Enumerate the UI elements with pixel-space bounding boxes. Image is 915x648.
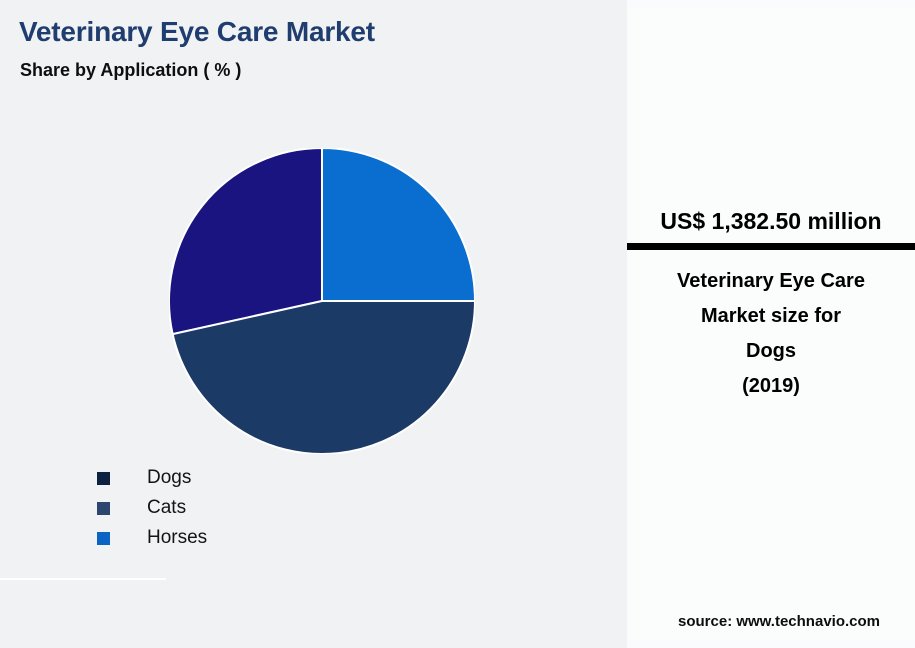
legend-item-dogs[interactable]: Dogs: [97, 463, 427, 493]
legend-label: Cats: [147, 497, 186, 519]
callout-desc-line-2: Market size for: [637, 299, 905, 334]
chart-canvas: Veterinary Eye Care Market Share by Appl…: [0, 0, 915, 648]
pie-slice-cats[interactable]: [173, 301, 475, 454]
legend-swatch-icon: [97, 502, 110, 515]
callout-divider: [627, 243, 915, 250]
callout-value: US$ 1,382.50 million: [627, 206, 915, 236]
chart-legend: Dogs Cats Horses: [97, 463, 427, 553]
chart-subtitle: Share by Application ( % ): [20, 60, 241, 81]
pie-chart-svg: [169, 148, 475, 454]
callout-desc-line-1: Veterinary Eye Care: [637, 264, 905, 299]
footer-divider: [0, 578, 166, 580]
legend-label: Dogs: [147, 467, 191, 489]
legend-swatch-icon: [97, 472, 110, 485]
callout-panel: US$ 1,382.50 million Veterinary Eye Care…: [627, 0, 915, 648]
callout-card: US$ 1,382.50 million Veterinary Eye Care…: [627, 206, 915, 404]
pie-chart: [169, 148, 475, 454]
source-attribution: source: www.technavio.com: [678, 613, 880, 630]
legend-item-horses[interactable]: Horses: [97, 523, 427, 553]
legend-label: Horses: [147, 527, 207, 549]
pie-slice-horses[interactable]: [322, 148, 475, 301]
callout-desc-line-4: (2019): [637, 369, 905, 404]
chart-panel: Veterinary Eye Care Market Share by Appl…: [0, 0, 627, 648]
page-title: Veterinary Eye Care Market: [19, 16, 375, 48]
legend-item-cats[interactable]: Cats: [97, 493, 427, 523]
callout-description: Veterinary Eye Care Market size for Dogs…: [627, 264, 915, 404]
callout-desc-line-3: Dogs: [637, 334, 905, 369]
legend-swatch-icon: [97, 532, 110, 545]
